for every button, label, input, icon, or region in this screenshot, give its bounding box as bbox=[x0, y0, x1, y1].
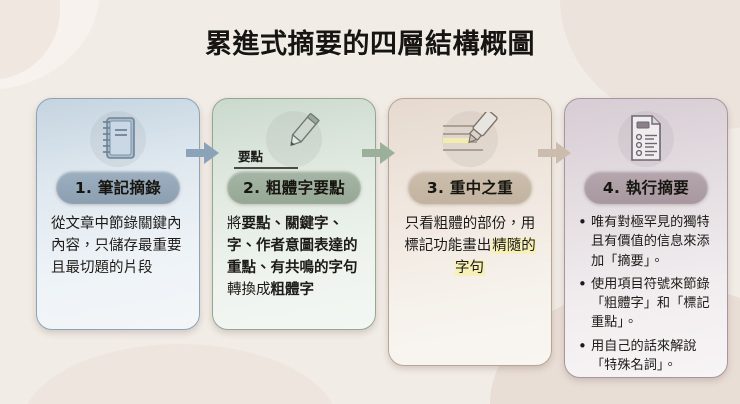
bullet-item: 用自己的話來解說「特殊名詞」。 bbox=[578, 337, 718, 376]
card-4-pill-label: 4. 執行摘要 bbox=[584, 171, 708, 204]
card-1-pill-label: 1. 筆記摘錄 bbox=[56, 171, 180, 204]
page-title: 累進式摘要的四層結構概圖 bbox=[0, 22, 740, 61]
card-1-icon-zone bbox=[46, 107, 190, 169]
arrow-1-to-2 bbox=[186, 140, 220, 166]
card-step-3[interactable]: 3. 重中之重 只看粗體的部份，用標記功能畫出精隨的字句 bbox=[388, 98, 552, 366]
card-row: 1. 筆記摘錄 從文章中節錄關鍵內內容，只儲存最重要且最切題的片段 要點 2. … bbox=[0, 98, 740, 398]
bold-run: 粗體字 bbox=[271, 282, 315, 298]
arrow-3-to-4 bbox=[538, 140, 572, 166]
plain-run: 將 bbox=[227, 216, 242, 232]
card-2-annotation-underline bbox=[234, 167, 298, 169]
card-3-icon-zone bbox=[398, 107, 542, 169]
card-2-pill-label: 2. 粗體字要點 bbox=[227, 171, 361, 204]
card-3-pill-label: 3. 重中之重 bbox=[408, 171, 532, 204]
card-2-body: 將要點、關鍵字、字、作者意圖表達的重點、有共鳴的字句轉換成粗體字 bbox=[222, 213, 366, 301]
card-3-body: 只看粗體的部份，用標記功能畫出精隨的字句 bbox=[398, 213, 542, 279]
card-1-body: 從文章中節錄關鍵內內容，只儲存最重要且最切題的片段 bbox=[46, 213, 190, 279]
document-checklist-icon bbox=[626, 113, 666, 163]
card-4-bullet-list: 唯有對極罕見的獨特且有價值的信息來添加「摘要」。使用項目符號來節錄「粗體字」和「… bbox=[574, 213, 718, 375]
notebook-icon bbox=[98, 114, 138, 162]
card-step-4[interactable]: 4. 執行摘要 唯有對極罕見的獨特且有價值的信息來添加「摘要」。使用項目符號來節… bbox=[564, 98, 728, 378]
bullet-item: 使用項目符號來節錄「粗體字」和「標記重點」。 bbox=[578, 275, 718, 333]
bold-run: 要點、關鍵字、字、作者意圖表達的重點、有共鳴的字句 bbox=[227, 216, 358, 276]
plain-run: 轉換成 bbox=[227, 282, 271, 298]
highlighter-icon bbox=[437, 112, 503, 164]
card-step-1[interactable]: 1. 筆記摘錄 從文章中節錄關鍵內內容，只儲存最重要且最切題的片段 bbox=[36, 98, 200, 330]
card-4-icon-zone bbox=[574, 107, 718, 169]
bullet-item: 唯有對極罕見的獨特且有價值的信息來添加「摘要」。 bbox=[578, 213, 718, 271]
card-step-2[interactable]: 要點 2. 粗體字要點 將要點、關鍵字、字、作者意圖表達的重點、有共鳴的字句轉換… bbox=[212, 98, 376, 330]
card-2-icon-zone: 要點 bbox=[222, 107, 366, 169]
card-2-annotation: 要點 bbox=[238, 146, 263, 165]
arrow-2-to-3 bbox=[362, 140, 396, 166]
pencil-icon bbox=[265, 113, 323, 163]
